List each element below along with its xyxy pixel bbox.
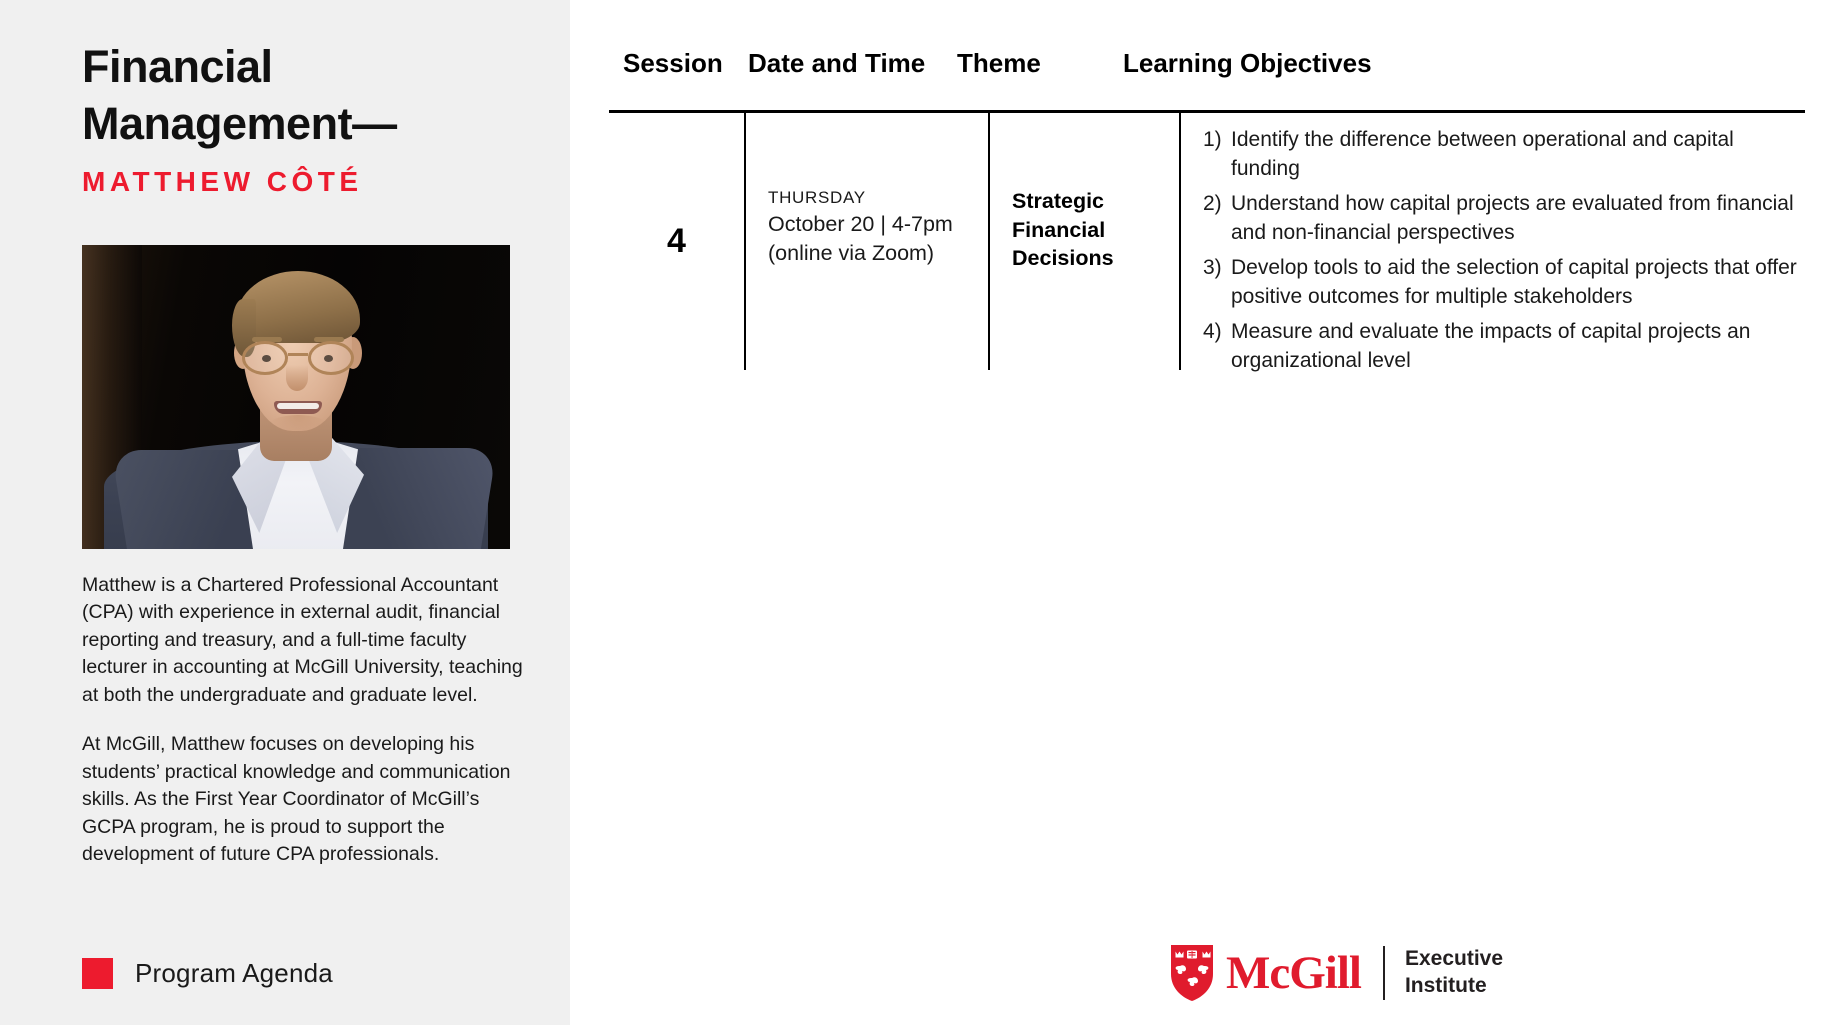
objective-item: 3) Develop tools to aid the selection of…	[1203, 254, 1805, 312]
mcgill-wordmark: McGill	[1226, 950, 1361, 997]
bio-paragraph-1: Matthew is a Chartered Professional Acco…	[82, 572, 526, 709]
cell-session: 4	[609, 113, 744, 370]
photo-chin-shadow	[268, 415, 328, 437]
cell-learning-objectives: 1) Identify the difference between opera…	[1179, 126, 1805, 382]
theme-line-1: Strategic	[1012, 187, 1179, 216]
photo-nose	[286, 365, 308, 391]
column-header-date-and-time: Date and Time	[748, 48, 925, 79]
date-time-value: October 20 | 4-7pm	[768, 210, 988, 239]
glasses-bridge	[288, 353, 308, 356]
objective-text: Identify the difference between operatio…	[1231, 126, 1805, 184]
objective-number: 3)	[1203, 254, 1231, 312]
mcgill-shield-icon	[1170, 944, 1214, 1002]
session-location: (online via Zoom)	[768, 239, 988, 268]
glasses-lens-right	[308, 341, 354, 375]
objective-number: 4)	[1203, 318, 1231, 376]
objective-number: 2)	[1203, 190, 1231, 248]
main-panel: Session Date and Time Theme Learning Obj…	[570, 0, 1835, 1025]
photo-teeth	[277, 403, 319, 409]
logo-divider	[1383, 946, 1385, 1000]
session-number: 4	[667, 222, 686, 261]
objective-text: Measure and evaluate the impacts of capi…	[1231, 318, 1805, 376]
slide-root: Financial Management— MATTHEW CÔTÉ	[0, 0, 1835, 1025]
logo-unit-name: Executive Institute	[1405, 946, 1503, 1000]
presenter-name: MATTHEW CÔTÉ	[82, 166, 542, 198]
logo-unit-line-1: Executive	[1405, 947, 1503, 970]
theme-line-2: Financial	[1012, 216, 1179, 245]
agenda-table: Session Date and Time Theme Learning Obj…	[609, 48, 1805, 110]
glasses-lens-left	[242, 341, 288, 375]
program-agenda-label: Program Agenda	[135, 958, 333, 989]
page-title-line-2-text: Management	[82, 98, 352, 149]
objective-text: Develop tools to aid the selection of ca…	[1231, 254, 1805, 312]
theme-line-3: Decisions	[1012, 244, 1179, 273]
cell-date-and-time: THURSDAY October 20 | 4-7pm (online via …	[744, 187, 988, 267]
title-em-dash: —	[352, 95, 397, 152]
column-header-theme: Theme	[957, 48, 1041, 79]
column-header-learning-objectives: Learning Objectives	[1123, 48, 1372, 79]
program-agenda-tag: Program Agenda	[82, 958, 333, 989]
page-title-line-1: Financial	[82, 38, 542, 95]
title-block: Financial Management— MATTHEW CÔTÉ	[82, 38, 542, 198]
red-square-icon	[82, 958, 113, 989]
presenter-photo	[82, 245, 510, 549]
objective-item: 2) Understand how capital projects are e…	[1203, 190, 1805, 248]
objective-number: 1)	[1203, 126, 1231, 184]
mcgill-executive-institute-logo: McGill Executive Institute	[1170, 944, 1503, 1002]
bio-paragraph-2: At McGill, Matthew focuses on developing…	[82, 731, 526, 868]
logo-unit-line-2: Institute	[1405, 974, 1487, 997]
date-day-of-week: THURSDAY	[768, 187, 988, 210]
photo-mouth	[274, 401, 322, 414]
table-row: 4 THURSDAY October 20 | 4-7pm (online vi…	[609, 113, 1805, 370]
page-title-line-2: Management—	[82, 95, 542, 152]
objective-text: Understand how capital projects are eval…	[1231, 190, 1805, 248]
objective-item: 4) Measure and evaluate the impacts of c…	[1203, 318, 1805, 376]
cell-theme: Strategic Financial Decisions	[988, 187, 1179, 273]
table-header-row: Session Date and Time Theme Learning Obj…	[609, 48, 1805, 110]
column-header-session: Session	[623, 48, 723, 79]
sidebar-panel: Financial Management— MATTHEW CÔTÉ	[0, 0, 570, 1025]
objective-item: 1) Identify the difference between opera…	[1203, 126, 1805, 184]
presenter-bio: Matthew is a Chartered Professional Acco…	[82, 572, 526, 869]
